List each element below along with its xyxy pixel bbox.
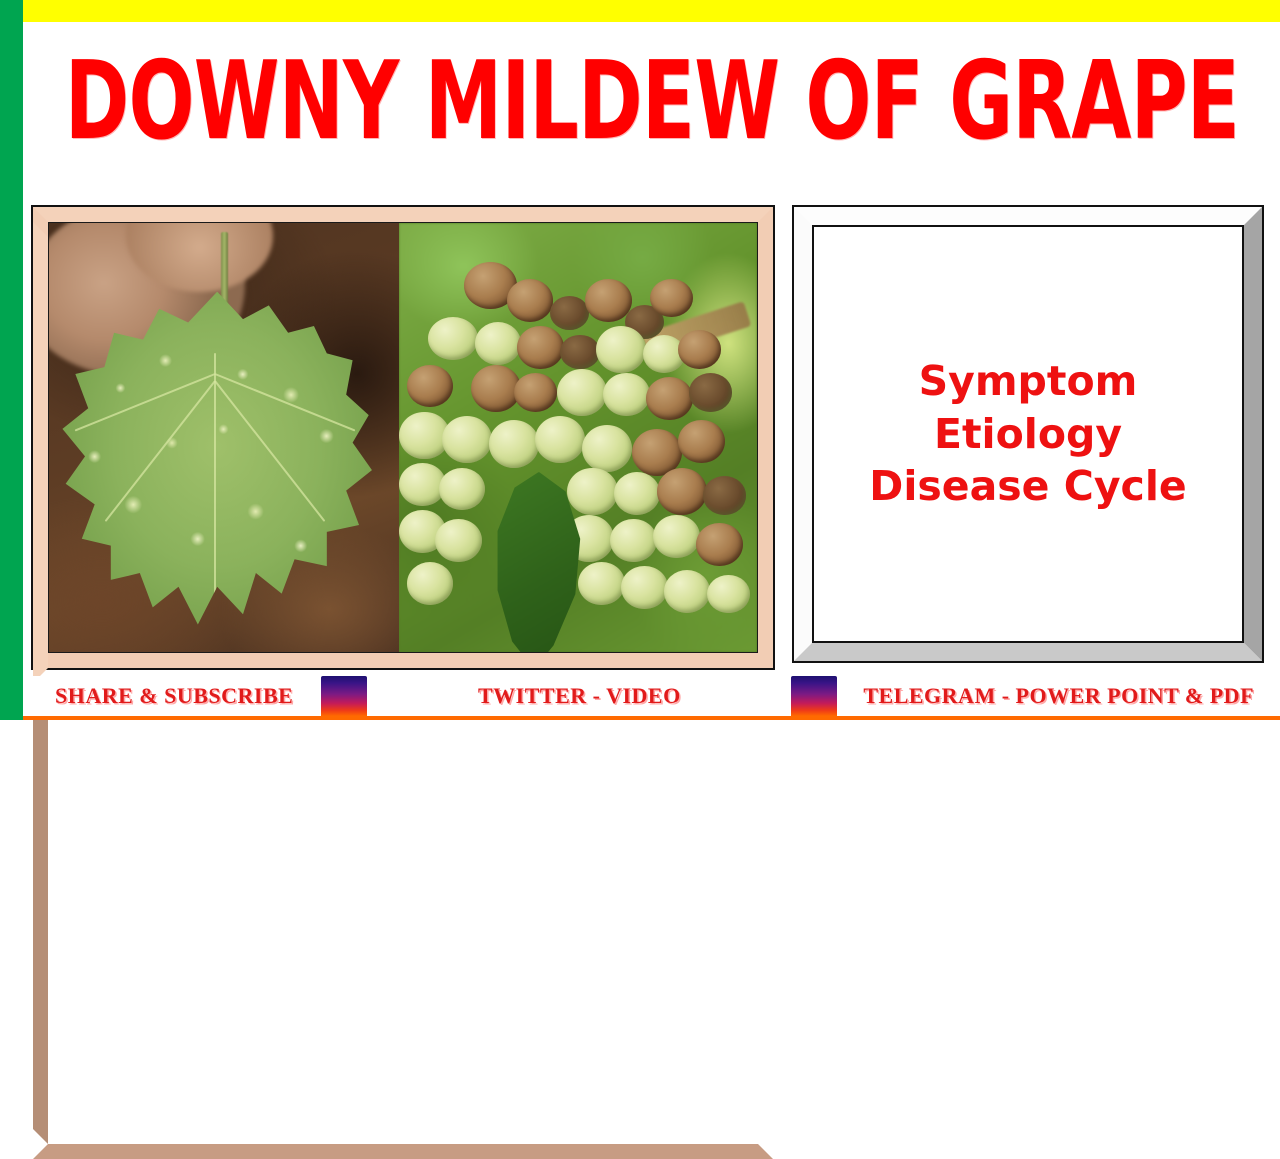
berry bbox=[435, 519, 481, 562]
grape-cluster-photo bbox=[399, 223, 757, 652]
berry bbox=[489, 420, 539, 467]
topics-bevel-right bbox=[1244, 207, 1262, 661]
frame-bevel-bottom bbox=[33, 1144, 773, 1159]
berry bbox=[550, 296, 589, 330]
berry bbox=[517, 326, 563, 369]
berry bbox=[596, 326, 646, 373]
berry bbox=[678, 420, 724, 463]
leaf-vein bbox=[215, 373, 356, 431]
telegram-label[interactable]: TELEGRAM - POWER POINT & PDF bbox=[863, 683, 1254, 709]
berry bbox=[657, 468, 707, 515]
berry bbox=[610, 519, 656, 562]
berry bbox=[582, 425, 632, 472]
twitter-video-label[interactable]: TWITTER - VIDEO bbox=[478, 683, 681, 709]
berry bbox=[585, 279, 631, 322]
berry bbox=[678, 330, 721, 369]
berry bbox=[567, 468, 617, 515]
topic-item-disease-cycle: Disease Cycle bbox=[869, 460, 1186, 512]
frame-bevel-top bbox=[33, 207, 773, 222]
berry bbox=[703, 476, 746, 515]
berry bbox=[696, 523, 742, 566]
page-title: DOWNY MILDEW OF GRAPE bbox=[64, 48, 1238, 156]
telegram-gradient-icon[interactable] bbox=[791, 676, 837, 716]
berry bbox=[646, 377, 692, 420]
top-accent-bar bbox=[23, 0, 1280, 22]
leaf-vein bbox=[104, 380, 215, 522]
berry bbox=[707, 575, 750, 614]
berry bbox=[621, 566, 667, 609]
photo-frame bbox=[31, 205, 775, 670]
topics-bevel-left bbox=[794, 207, 812, 661]
topics-bevel-bottom bbox=[794, 643, 1262, 661]
leaf-vein bbox=[214, 353, 216, 593]
topic-item-etiology: Etiology bbox=[934, 408, 1122, 460]
berry bbox=[507, 279, 553, 322]
footer-bar: SHARE & SUBSCRIBE TWITTER - VIDEO TELEGR… bbox=[23, 676, 1280, 720]
berry bbox=[557, 369, 607, 416]
topics-list: Symptom Etiology Disease Cycle bbox=[812, 225, 1244, 643]
frame-bevel-left bbox=[33, 222, 48, 683]
leaf-vein bbox=[214, 380, 325, 522]
berry bbox=[407, 365, 453, 408]
berry bbox=[475, 322, 521, 365]
share-subscribe-label[interactable]: SHARE & SUBSCRIBE bbox=[55, 683, 293, 709]
berry bbox=[614, 472, 660, 515]
berry bbox=[689, 373, 732, 412]
leaf-photo bbox=[49, 223, 399, 652]
leaf-vein bbox=[75, 373, 216, 431]
title-area: DOWNY MILDEW OF GRAPE bbox=[23, 22, 1280, 182]
berry bbox=[578, 562, 624, 605]
left-accent-strip bbox=[0, 0, 23, 720]
topic-item-symptom: Symptom bbox=[919, 355, 1138, 407]
topics-frame: Symptom Etiology Disease Cycle bbox=[792, 205, 1264, 663]
photo-frame-inner bbox=[48, 222, 758, 653]
berry bbox=[650, 279, 693, 318]
berry bbox=[514, 373, 557, 412]
berry bbox=[653, 515, 699, 558]
frame-bevel-right bbox=[33, 683, 48, 1144]
youtube-gradient-icon[interactable] bbox=[321, 676, 367, 716]
berry bbox=[560, 335, 599, 369]
berry bbox=[603, 373, 649, 416]
topics-bevel-top bbox=[794, 207, 1262, 225]
berry bbox=[407, 562, 453, 605]
